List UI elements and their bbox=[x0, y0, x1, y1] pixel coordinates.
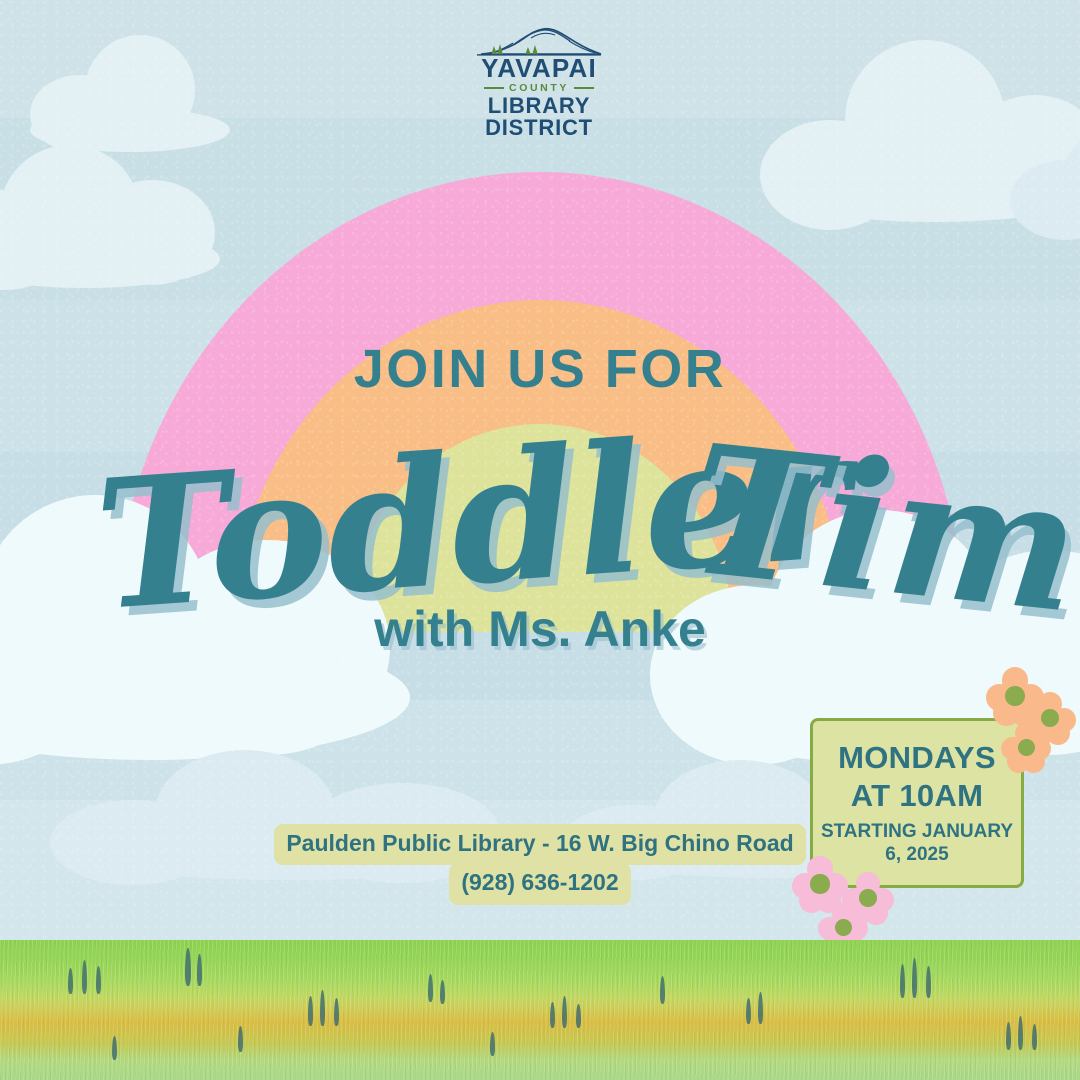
cloud-icon bbox=[30, 30, 240, 150]
logo-line-county: COUNTY bbox=[509, 82, 569, 94]
venue-phone: (928) 636-1202 bbox=[449, 863, 630, 904]
logo-line-district: DISTRICT bbox=[463, 117, 615, 139]
logo-line-library: LIBRARY bbox=[463, 95, 615, 117]
event-flyer: YAVAPAI COUNTY LIBRARY DISTRICT JOIN US … bbox=[0, 0, 1080, 1080]
mountain-range-icon bbox=[473, 26, 605, 56]
eyebrow-text: JOIN US FOR bbox=[0, 338, 1080, 400]
cloud-icon bbox=[0, 135, 240, 285]
logo-rule-left bbox=[484, 87, 504, 89]
flower-peach-icon bbox=[1001, 722, 1051, 772]
schedule-day: MONDAYS bbox=[838, 740, 996, 776]
logo-line-yavapai: YAVAPAI bbox=[463, 56, 615, 81]
schedule-start-line1: STARTING JANUARY bbox=[821, 821, 1013, 843]
logo-county-row: COUNTY bbox=[463, 82, 615, 94]
grass-field bbox=[0, 940, 1080, 1080]
logo-rule-right bbox=[574, 87, 594, 89]
yavapai-county-library-district-logo: YAVAPAI COUNTY LIBRARY DISTRICT bbox=[463, 26, 615, 112]
schedule-time: AT 10AM bbox=[851, 778, 983, 814]
grass-texture bbox=[0, 940, 1080, 1080]
venue-address: Paulden Public Library - 16 W. Big Chino… bbox=[274, 824, 805, 865]
subtitle-text: with Ms. Anke bbox=[0, 600, 1080, 658]
cloud-icon bbox=[1010, 130, 1080, 240]
schedule-start-line2: 6, 2025 bbox=[885, 844, 948, 866]
